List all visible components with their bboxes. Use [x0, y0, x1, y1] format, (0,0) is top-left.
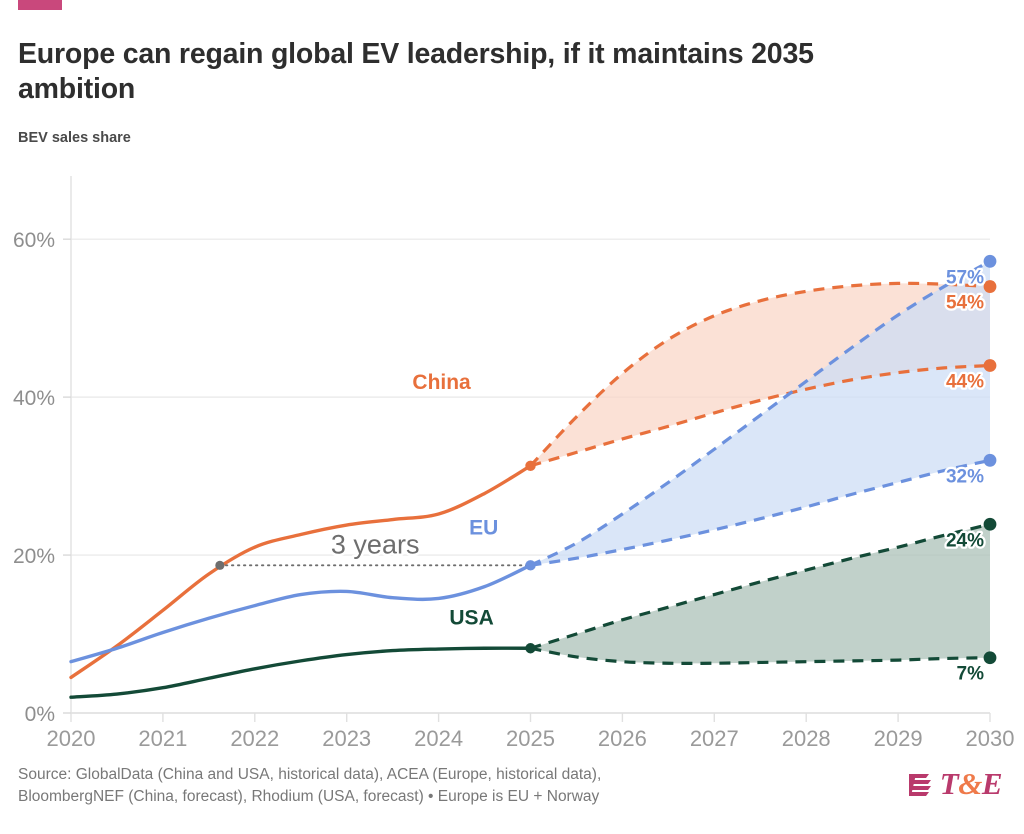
logo-stripes-icon — [907, 769, 933, 799]
svg-text:40%: 40% — [13, 387, 55, 410]
svg-text:60%: 60% — [13, 229, 55, 252]
value-label-eu-high: 57% — [946, 267, 984, 288]
value-label-china-high: 54% — [946, 293, 984, 314]
svg-text:2023: 2023 — [322, 726, 371, 751]
svg-text:2022: 2022 — [230, 726, 279, 751]
endpoint-eu-high — [984, 255, 997, 268]
accent-bar — [18, 0, 62, 10]
endpoint-eu-low — [984, 454, 997, 467]
svg-text:2029: 2029 — [874, 726, 923, 751]
page-title: Europe can regain global EV leadership, … — [18, 37, 918, 107]
source-line-2: BloombergNEF (China, forecast), Rhodium … — [18, 786, 808, 808]
series-label-usa: USA — [449, 607, 493, 630]
source-line-1: Source: GlobalData (China and USA, histo… — [18, 764, 808, 786]
svg-text:2024: 2024 — [414, 726, 463, 751]
line-chart: 3 years 54%44%China57%32%EU24%7%USA 2020… — [0, 160, 1024, 755]
logo-wordmark: T&E — [940, 768, 1002, 799]
logo-ampersand: & — [958, 766, 982, 801]
forecast-bands — [531, 261, 991, 663]
value-label-eu-low: 32% — [946, 466, 984, 487]
logo-t: T — [940, 766, 958, 801]
svg-text:2020: 2020 — [47, 726, 96, 751]
endpoint-usa-low — [984, 651, 997, 664]
series-label-china: China — [412, 371, 471, 394]
svg-text:2028: 2028 — [782, 726, 831, 751]
endpoint-usa-high — [984, 518, 997, 531]
svg-text:2026: 2026 — [598, 726, 647, 751]
value-label-china-low: 44% — [946, 372, 984, 393]
svg-text:2030: 2030 — [966, 726, 1015, 751]
chart-container: 3 years 54%44%China57%32%EU24%7%USA 2020… — [0, 160, 1024, 755]
series-label-eu: EU — [469, 517, 498, 540]
split-point-usa — [525, 643, 535, 653]
historical-line-china — [71, 466, 531, 678]
chart-subtitle: BEV sales share — [18, 130, 131, 146]
historical-line-usa — [71, 648, 531, 697]
svg-text:0%: 0% — [25, 703, 55, 726]
svg-text:2027: 2027 — [690, 726, 739, 751]
svg-text:2025: 2025 — [506, 726, 555, 751]
split-point-eu — [525, 560, 535, 570]
svg-text:20%: 20% — [13, 545, 55, 568]
svg-text:2021: 2021 — [138, 726, 187, 751]
endpoint-china-low — [984, 359, 997, 372]
endpoint-china-high — [984, 280, 997, 293]
value-label-usa-low: 7% — [957, 664, 985, 685]
te-logo: T&E — [907, 768, 1002, 799]
annotation-marker-start — [215, 561, 224, 570]
split-point-china — [525, 461, 535, 471]
source-note: Source: GlobalData (China and USA, histo… — [18, 764, 808, 808]
value-label-usa-high: 24% — [946, 530, 984, 551]
annotation-text: 3 years — [331, 529, 420, 559]
logo-e: E — [982, 766, 1002, 801]
